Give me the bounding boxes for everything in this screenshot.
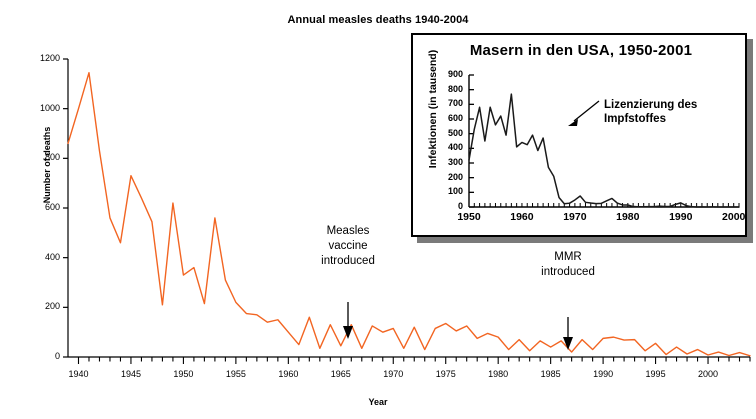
- main-x-tick-label: 1995: [636, 369, 676, 379]
- main-x-tick-label: 1985: [531, 369, 571, 379]
- inset-y-tick-label: 300: [437, 157, 463, 167]
- main-x-tick-label: 1950: [163, 369, 203, 379]
- inset-y-tick-label: 800: [437, 84, 463, 94]
- main-x-tick-label: 1975: [426, 369, 466, 379]
- inset-x-tick-label: 1990: [658, 211, 704, 223]
- main-x-tick-label: 1945: [111, 369, 151, 379]
- inset-y-ticks: [469, 75, 474, 207]
- main-x-tick-label: 2000: [688, 369, 728, 379]
- inset-y-tick-label: 500: [437, 128, 463, 138]
- inset-y-tick-label: 100: [437, 186, 463, 196]
- main-y-tick-label: 0: [26, 351, 60, 361]
- inset-axes: [469, 75, 739, 207]
- main-x-ticks: [78, 357, 750, 364]
- main-x-tick-label: 1955: [216, 369, 256, 379]
- annotation-mmr: MMR introduced: [508, 250, 628, 280]
- inset-x-tick-label: 1980: [605, 211, 651, 223]
- inset-x-tick-label: 2000: [711, 211, 756, 223]
- inset-y-tick-label: 400: [437, 142, 463, 152]
- inset-annotation-pointer: [568, 101, 599, 126]
- inset-y-tick-label: 700: [437, 98, 463, 108]
- inset-y-tick-label: 200: [437, 172, 463, 182]
- inset-chart: Masern in den USA, 1950-2001 Infektionen…: [411, 33, 747, 237]
- main-y-ticks: [63, 59, 68, 357]
- main-x-tick-label: 1990: [583, 369, 623, 379]
- main-x-tick-label: 1965: [321, 369, 361, 379]
- inset-y-tick-label: 900: [437, 69, 463, 79]
- main-y-tick-label: 1200: [26, 53, 60, 63]
- annotation-lizenzierung: Lizenzierung des Impfstoffes: [604, 98, 754, 126]
- annotation-measles-vaccine: Measles vaccine introduced: [288, 224, 408, 269]
- main-x-tick-label: 1980: [478, 369, 518, 379]
- inset-x-tick-label: 1970: [552, 211, 598, 223]
- main-y-tick-label: 1000: [26, 103, 60, 113]
- inset-x-tick-label: 1950: [446, 211, 492, 223]
- inset-x-tick-label: 1960: [499, 211, 545, 223]
- inset-y-tick-label: 600: [437, 113, 463, 123]
- main-y-tick-label: 600: [26, 202, 60, 212]
- main-y-tick-label: 400: [26, 252, 60, 262]
- main-y-tick-label: 200: [26, 301, 60, 311]
- main-x-tick-label: 1960: [268, 369, 308, 379]
- main-x-tick-label: 1970: [373, 369, 413, 379]
- main-y-tick-label: 800: [26, 152, 60, 162]
- inset-y-tick-label: 0: [437, 201, 463, 211]
- inset-plot-svg: [413, 35, 749, 239]
- main-x-tick-label: 1940: [58, 369, 98, 379]
- chart-page: Annual measles deaths 1940-2004 Number o…: [0, 0, 756, 419]
